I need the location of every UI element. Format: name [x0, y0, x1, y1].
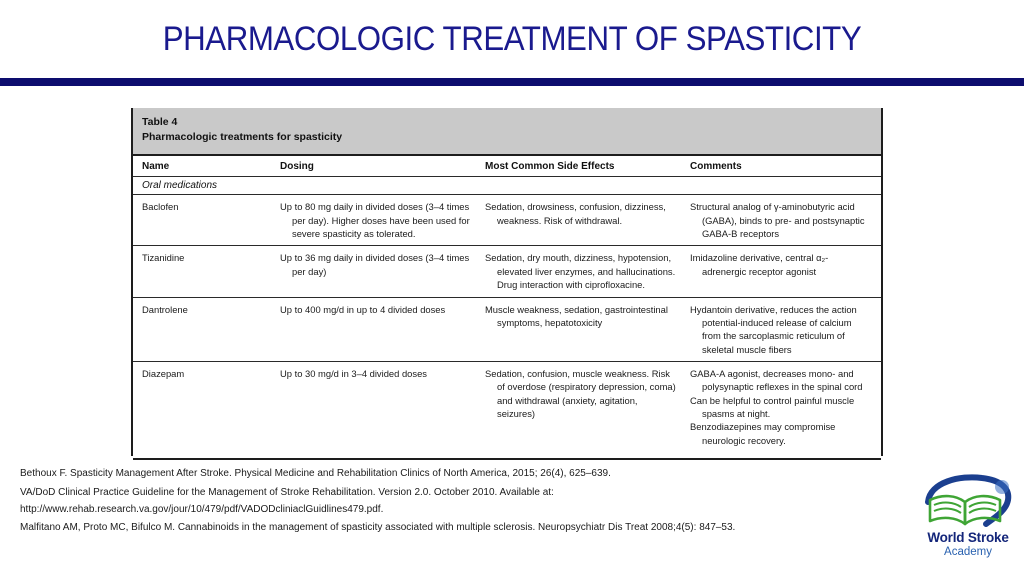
cell-comment-line: Structural analog of γ-aminobutyric acid… — [690, 200, 868, 240]
world-stroke-academy-logo: World Stroke Academy — [916, 474, 1020, 570]
table-row: Tizanidine Up to 36 mg daily in divided … — [133, 246, 881, 296]
cell-side-effects: Sedation, dry mouth, dizziness, hypotens… — [485, 251, 690, 291]
table-caption-text: Pharmacologic treatments for spasticity — [142, 130, 872, 145]
logo-text-primary: World Stroke — [916, 530, 1020, 545]
column-header-side-effects: Most Common Side Effects — [485, 161, 690, 172]
cell-side-effects: Sedation, drowsiness, confusion, dizzine… — [485, 200, 690, 240]
cell-comment-line: GABA-A agonist, decreases mono- and poly… — [690, 367, 868, 394]
title-accent-bar — [0, 78, 1024, 86]
cell-side-effects: Sedation, confusion, muscle weakness. Ri… — [485, 367, 690, 447]
cell-comments: Structural analog of γ-aminobutyric acid… — [690, 200, 876, 240]
table-row: Diazepam Up to 30 mg/d in 3–4 divided do… — [133, 362, 881, 452]
cell-comments: Hydantoin derivative, reduces the action… — [690, 303, 876, 356]
cell-name: Dantrolene — [133, 303, 280, 356]
logo-text-secondary: Academy — [916, 546, 1020, 558]
page-title: PHARMACOLOGIC TREATMENT OF SPASTICITY — [41, 20, 983, 59]
cell-dosing: Up to 30 mg/d in 3–4 divided doses — [280, 367, 485, 447]
column-header-dosing: Dosing — [280, 161, 485, 172]
cell-comments: Imidazoline derivative, central α₂-adren… — [690, 251, 876, 291]
reference-item: VA/DoD Clinical Practice Guideline for t… — [20, 485, 900, 519]
column-header-name: Name — [133, 161, 280, 172]
cell-name: Tizanidine — [133, 251, 280, 291]
reference-item: Bethoux F. Spasticity Management After S… — [20, 466, 900, 483]
table-caption: Table 4 Pharmacologic treatments for spa… — [133, 108, 881, 154]
table-caption-label: Table 4 — [142, 115, 872, 130]
pharmacologic-treatments-table: Table 4 Pharmacologic treatments for spa… — [131, 108, 883, 456]
cell-side-effects: Muscle weakness, sedation, gastrointesti… — [485, 303, 690, 356]
table-group-row-oral-medications: Oral medications — [133, 177, 881, 194]
table-row: Baclofen Up to 80 mg daily in divided do… — [133, 195, 881, 245]
table-row: Dantrolene Up to 400 mg/d in up to 4 div… — [133, 298, 881, 361]
references-block: Bethoux F. Spasticity Management After S… — [20, 466, 900, 539]
rule-bottom — [133, 458, 881, 460]
cell-comment-line: Imidazoline derivative, central α₂-adren… — [690, 251, 868, 278]
reference-item: Malfitano AM, Proto MC, Bifulco M. Canna… — [20, 520, 900, 537]
cell-dosing: Up to 80 mg daily in divided doses (3–4 … — [280, 200, 485, 240]
column-header-comments: Comments — [690, 161, 876, 172]
cell-comment-line: Hydantoin derivative, reduces the action… — [690, 303, 868, 356]
cell-comments: GABA-A agonist, decreases mono- and poly… — [690, 367, 876, 447]
cell-comment-line: Benzodiazepines may compromise neurologi… — [690, 420, 868, 447]
table-column-headers: Name Dosing Most Common Side Effects Com… — [133, 156, 881, 176]
cell-name: Diazepam — [133, 367, 280, 447]
cell-comment-line: Can be helpful to control painful muscle… — [690, 394, 868, 421]
cell-dosing: Up to 36 mg daily in divided doses (3–4 … — [280, 251, 485, 291]
cell-name: Baclofen — [133, 200, 280, 240]
open-book-icon — [916, 474, 1020, 532]
cell-dosing: Up to 400 mg/d in up to 4 divided doses — [280, 303, 485, 356]
